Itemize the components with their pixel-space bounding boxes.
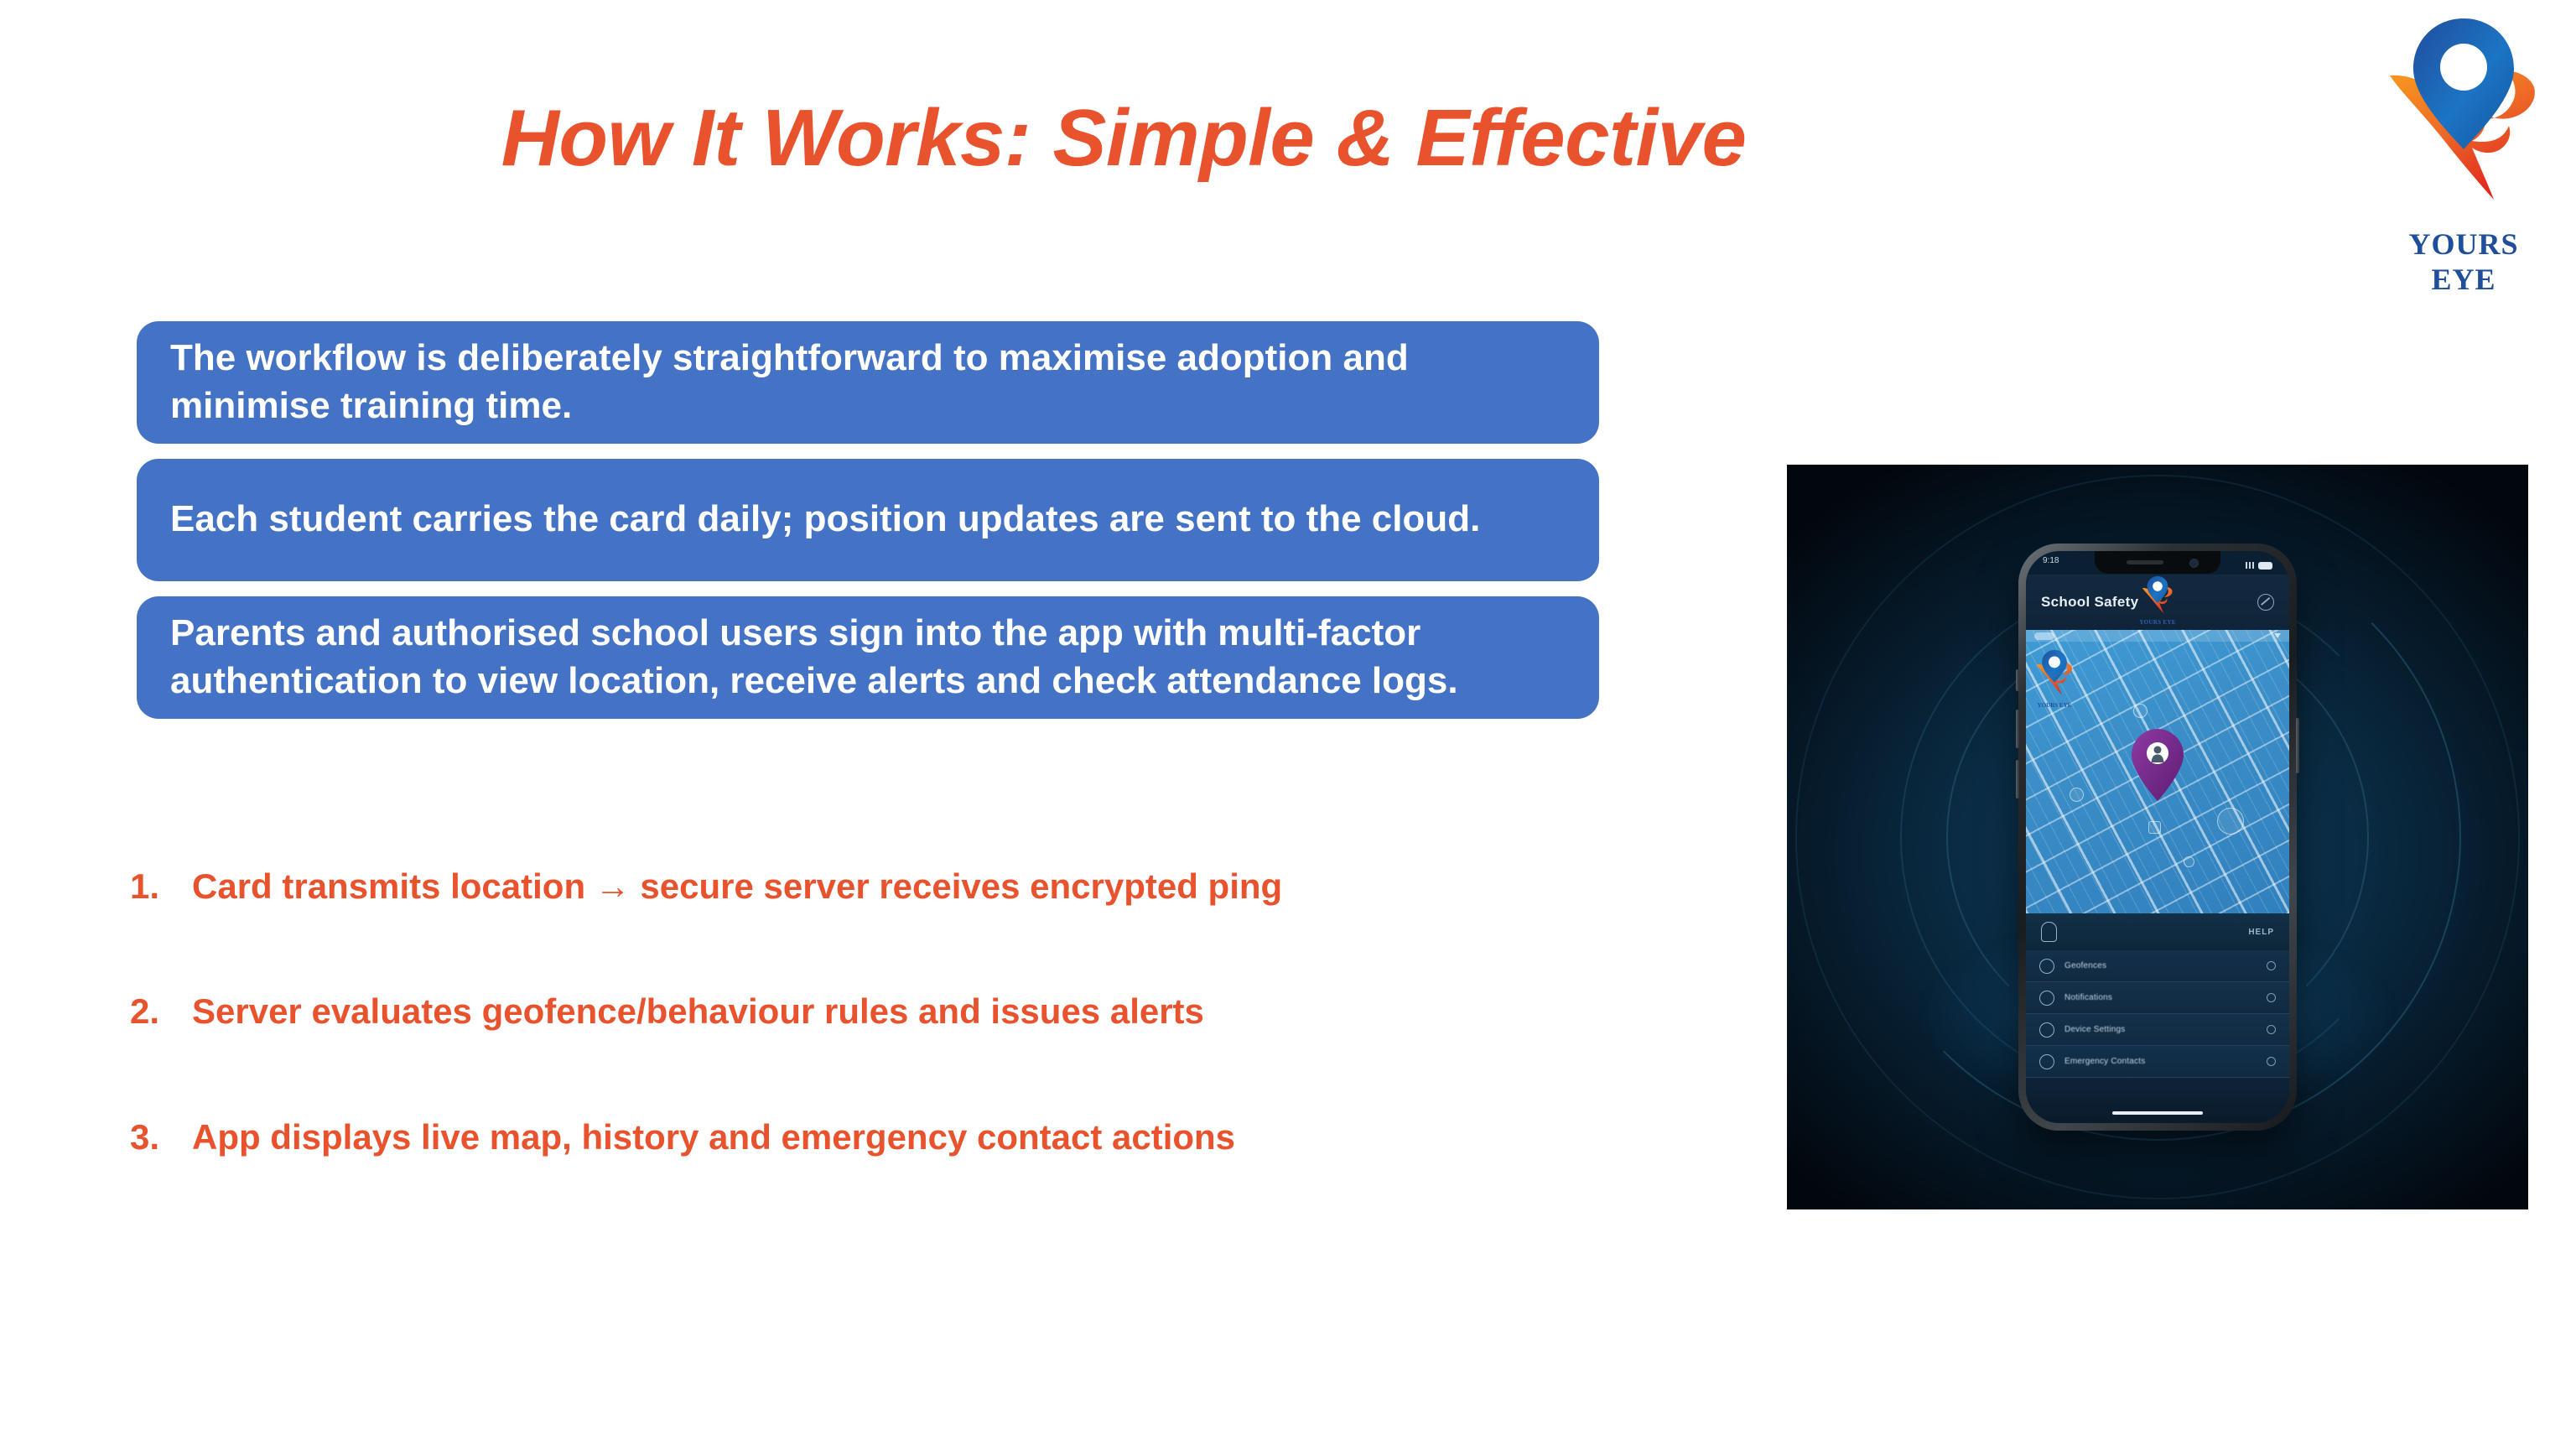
volume-down-button — [2016, 760, 2019, 798]
list-item: 3. App displays live map, history and em… — [130, 1116, 1639, 1158]
map-search-chip[interactable] — [2034, 632, 2054, 640]
chevron-right-icon — [2267, 1057, 2276, 1066]
step-number: 1. — [130, 866, 192, 908]
callout-text: Parents and authorised school users sign… — [170, 609, 1566, 705]
app-header-logo: YOURS EYE — [2137, 576, 2179, 625]
callout-text: Each student carries the card daily; pos… — [170, 495, 1480, 543]
gear-icon — [2039, 1022, 2054, 1038]
chevron-right-icon — [2267, 1025, 2276, 1034]
list-item-label: Geofences — [2064, 961, 2106, 970]
callout-box: The workflow is deliberately straightfor… — [137, 321, 1599, 444]
settings-list: Geofences Notifications Device Settings — [2026, 950, 2289, 1078]
geofence-icon — [2039, 959, 2054, 974]
callout-box: Parents and authorised school users sign… — [137, 596, 1599, 719]
chevron-right-icon — [2267, 961, 2276, 970]
phone-screen: 9:18 School Safety Y — [2026, 551, 2289, 1123]
status-time: 9:18 — [2043, 556, 2059, 575]
step-text: Card transmits location → secure server … — [192, 866, 1639, 908]
map-roundabout-icon — [2217, 808, 2244, 835]
battery-icon — [2258, 562, 2272, 570]
quick-action-row: HELP — [2026, 913, 2289, 950]
map-building-icon — [2148, 821, 2161, 834]
process-step-list: 1. Card transmits location → secure serv… — [130, 866, 1639, 1241]
list-item[interactable]: Geofences — [2026, 950, 2289, 982]
phone-notch — [2095, 551, 2220, 574]
map-poi-icon — [2070, 788, 2084, 802]
brand-logo: YOURS EYE — [2380, 18, 2547, 262]
chevron-right-icon — [2267, 993, 2276, 1002]
status-indicators — [2246, 556, 2272, 575]
callout-box: Each student carries the card daily; pos… — [137, 459, 1599, 581]
callout-text: The workflow is deliberately straightfor… — [170, 334, 1566, 429]
list-item[interactable]: Notifications — [2026, 982, 2289, 1014]
volume-up-button — [2016, 710, 2019, 748]
step-number: 3. — [130, 1116, 192, 1158]
earpiece-speaker — [2127, 560, 2163, 564]
student-location-pin-icon[interactable] — [2132, 729, 2184, 801]
bell-icon — [2039, 991, 2054, 1006]
list-item: 1. Card transmits location → secure serv… — [130, 866, 1639, 908]
slide-canvas: How It Works: Simple & Effective — [0, 0, 2576, 1446]
list-item[interactable]: Device Settings — [2026, 1014, 2289, 1046]
chevron-down-icon[interactable] — [2274, 633, 2281, 638]
list-item-label: Emergency Contacts — [2064, 1057, 2145, 1066]
app-logo-wordmark: YOURS EYE — [2137, 619, 2179, 626]
yours-eye-logo-mark-watermark — [2031, 650, 2078, 700]
no-entry-icon[interactable] — [2257, 594, 2274, 611]
logo-wordmark: YOURS EYE — [2380, 226, 2547, 297]
page-title: How It Works: Simple & Effective — [0, 94, 2247, 183]
map-watermark-text: YOURS EYE — [2031, 702, 2078, 709]
list-item-label: Notifications — [2064, 993, 2112, 1002]
list-item[interactable]: Emergency Contacts — [2026, 1046, 2289, 1078]
app-title: School Safety — [2041, 594, 2138, 611]
home-indicator[interactable] — [2112, 1111, 2203, 1115]
step-number: 2. — [130, 991, 192, 1032]
callout-box-group: The workflow is deliberately straightfor… — [137, 321, 1599, 734]
mute-switch — [2016, 669, 2019, 691]
map-poi-icon — [2184, 856, 2194, 867]
map-watermark-logo: YOURS EYE — [2031, 650, 2078, 709]
signal-icon — [2246, 562, 2256, 569]
smartphone-device: 9:18 School Safety Y — [2018, 544, 2297, 1131]
list-item-label: Device Settings — [2064, 1025, 2125, 1034]
location-pin-icon[interactable] — [2041, 922, 2057, 942]
list-item: 2. Server evaluates geofence/behaviour r… — [130, 991, 1639, 1032]
screen-bottom-fill — [2026, 1078, 2289, 1123]
map-poi-icon — [2133, 704, 2148, 718]
app-header: School Safety YOURS EYE — [2026, 575, 2289, 630]
step-text: Server evaluates geofence/behaviour rule… — [192, 991, 1639, 1032]
help-button-label[interactable]: HELP — [2248, 928, 2274, 937]
step-text: App displays live map, history and emerg… — [192, 1116, 1639, 1158]
front-camera-icon — [2189, 559, 2199, 568]
yours-eye-logo-mark — [2386, 18, 2541, 221]
yours-eye-logo-mark-small — [2137, 576, 2179, 618]
live-map-view[interactable]: YOURS EYE — [2026, 630, 2289, 913]
phone-mockup-image: 9:18 School Safety Y — [1787, 465, 2528, 1209]
phone-icon — [2039, 1054, 2054, 1069]
power-button — [2296, 718, 2299, 773]
